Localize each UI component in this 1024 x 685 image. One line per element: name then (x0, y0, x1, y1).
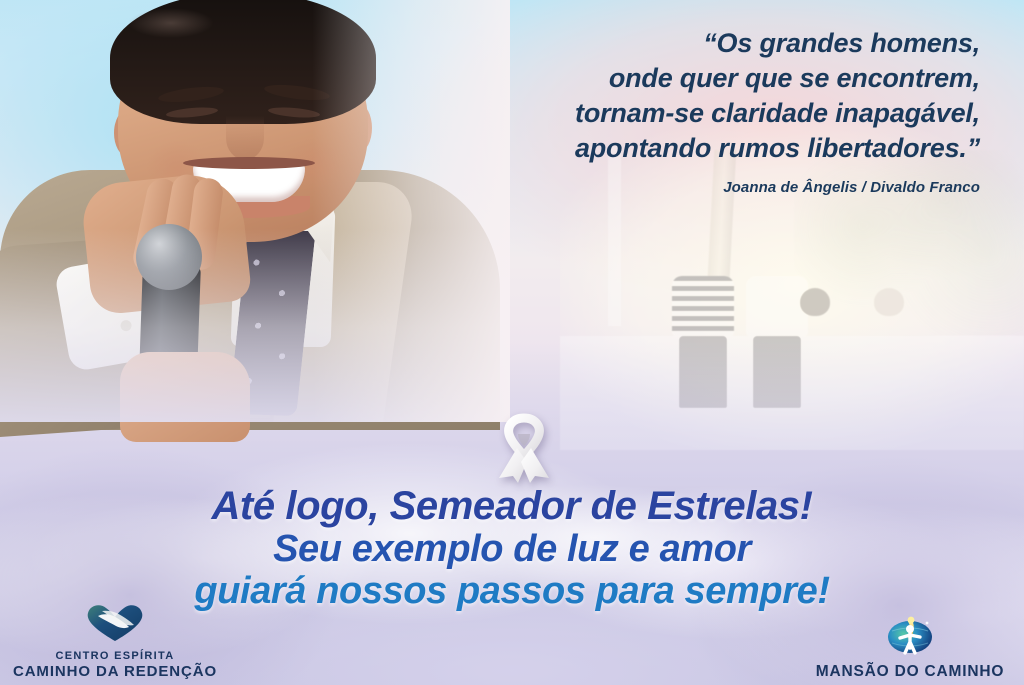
hand-holding-microphone (120, 352, 250, 442)
quote-line-1: “Os grandes homens, (420, 26, 980, 61)
quote-line-3: tornam-se claridade inapagável, (420, 96, 980, 131)
heart-with-hands-icon (10, 602, 220, 647)
scene-person-head (874, 288, 904, 316)
headline-line-2: Seu exemplo de luz e amor (0, 528, 1024, 570)
quote-line-2: onde quer que se encontrem, (420, 61, 980, 96)
microphone-head (136, 224, 202, 290)
centro-espirita-line-2: CAMINHO DA REDENÇÃO (10, 663, 220, 681)
scene-person-head (800, 288, 830, 316)
quote-attribution: Joanna de Ângelis / Divaldo Franco (420, 179, 980, 196)
memorial-poster: “Os grandes homens, onde quer que se enc… (0, 0, 1024, 685)
mansao-do-caminho-logo-block: MANSÃO DO CAMINHO (804, 611, 1016, 681)
centro-espirita-line-1: CENTRO ESPÍRITA (10, 649, 220, 663)
mansao-do-caminho-label: MANSÃO DO CAMINHO (804, 662, 1016, 681)
centro-espirita-logo-block: CENTRO ESPÍRITA CAMINHO DA REDENÇÃO (10, 602, 220, 681)
headline-block: Até logo, Semeador de Estrelas! Seu exem… (0, 484, 1024, 612)
globe-figure-flame-icon (804, 611, 1016, 660)
nose (226, 116, 264, 160)
headline-line-1: Até logo, Semeador de Estrelas! (0, 484, 1024, 528)
white-ribbon-icon (487, 412, 561, 484)
quote-block: “Os grandes homens, onde quer que se enc… (420, 26, 980, 196)
quote-line-4: apontando rumos libertadores.” (420, 131, 980, 166)
hair (110, 0, 376, 124)
